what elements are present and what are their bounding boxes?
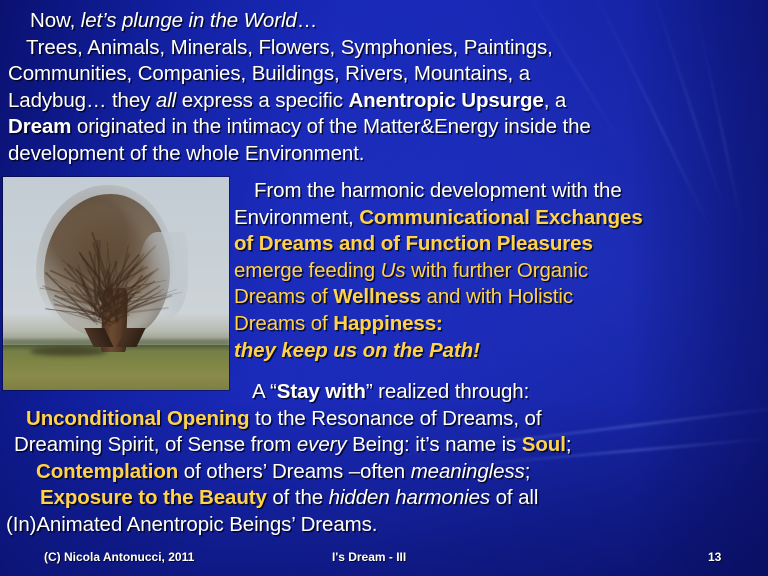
footer-title: I's Dream - III [332,550,406,564]
text-line: Dreams of Happiness: [234,311,643,338]
text-run: every [297,433,347,456]
intro-paragraph: Now, let’s plunge in the World…Trees, An… [8,8,591,167]
text-line: Exposure to the Beauty of the hidden har… [6,485,571,512]
text-run: Soul [522,433,566,456]
text-run: of the [267,486,329,509]
slide-canvas: Now, let’s plunge in the World…Trees, An… [0,0,768,576]
text-run: let’s plunge in the World [81,9,297,32]
text-run: they keep us on the Path! [234,339,480,362]
text-run: hidden harmonies [329,486,490,509]
text-run: with further Organic [406,259,588,282]
text-run: to the Resonance of Dreams, of [249,407,541,430]
text-line: Now, let’s plunge in the World… [8,8,591,35]
text-line: Environment, Communicational Exchanges [234,205,643,232]
text-line: Contemplation of others’ Dreams –often m… [6,459,571,486]
text-line: Unconditional Opening to the Resonance o… [6,406,571,433]
text-line: Ladybug… they all express a specific Ane… [8,88,591,115]
stay-with-paragraph: A “Stay with” realized through:Unconditi… [6,379,571,539]
text-run: Contemplation [36,460,178,483]
text-run: … [297,9,317,32]
text-line: From the harmonic development with the [234,178,643,205]
text-run: Now, [30,9,81,32]
text-run: Environment, [234,206,359,229]
text-run: meaningless [411,460,525,483]
text-run: Wellness [333,285,421,308]
footer-page-number: 13 [708,550,721,564]
text-run: Dreams of [234,312,333,335]
text-run: Ladybug… they [8,89,156,112]
text-run: emerge feeding [234,259,381,282]
text-line: (In)Animated Anentropic Beings’ Dreams. [6,512,571,539]
text-run: and with Holistic [421,285,573,308]
text-run: Dream [8,115,71,138]
text-line: of Dreams and of Function Pleasures [234,231,643,258]
text-line: emerge feeding Us with further Organic [234,258,643,285]
text-run: ; [566,433,572,456]
text-run: Anentropic Upsurge [348,89,543,112]
text-run: Unconditional Opening [26,407,249,430]
slide-footer: (C) Nicola Antonucci, 2011 I's Dream - I… [0,550,768,570]
background-streak [645,0,727,217]
text-run: Dreams of [234,285,333,308]
text-run: ” realized through: [366,380,529,403]
image-tree-shadow [30,347,107,356]
text-run: all [156,89,176,112]
text-run: Communicational Exchanges [359,206,642,229]
text-run: , a [544,89,567,112]
text-run: of Dreams and of Function Pleasures [234,232,593,255]
text-run: Being: it’s name is [347,433,522,456]
text-run: development of the whole Environment. [8,142,364,165]
text-run: express a specific [176,89,348,112]
text-run: Dreaming Spirit, of Sense from [14,433,297,456]
image-face-profile [139,232,189,317]
tree-head-image [3,177,229,390]
harmonic-development-paragraph: From the harmonic development with theEn… [234,178,643,364]
text-line: Trees, Animals, Minerals, Flowers, Symph… [8,35,591,62]
text-line: Dreaming Spirit, of Sense from every Bei… [6,432,571,459]
text-line: Dream originated in the intimacy of the … [8,114,591,141]
text-run: A “ [252,380,277,403]
text-run: Communities, Companies, Buildings, River… [8,62,530,85]
text-run: From the harmonic development with the [254,179,622,202]
text-run: Exposure to the Beauty [40,486,267,509]
text-run: originated in the intimacy of the Matter… [71,115,590,138]
text-run: (In)Animated Anentropic Beings’ Dreams. [6,513,377,536]
footer-copyright: (C) Nicola Antonucci, 2011 [44,550,194,564]
text-line: development of the whole Environment. [8,141,591,168]
text-run: Happiness: [333,312,443,335]
text-run: Trees, Animals, Minerals, Flowers, Symph… [26,36,553,59]
text-run: ; [525,460,531,483]
background-streak [694,3,745,238]
text-run: of all [490,486,538,509]
text-line: Communities, Companies, Buildings, River… [8,61,591,88]
text-run: of others’ Dreams –often [178,460,411,483]
text-line: they keep us on the Path! [234,338,643,365]
text-line: Dreams of Wellness and with Holistic [234,284,643,311]
text-run: Stay with [277,380,366,403]
text-run: Us [381,259,406,282]
